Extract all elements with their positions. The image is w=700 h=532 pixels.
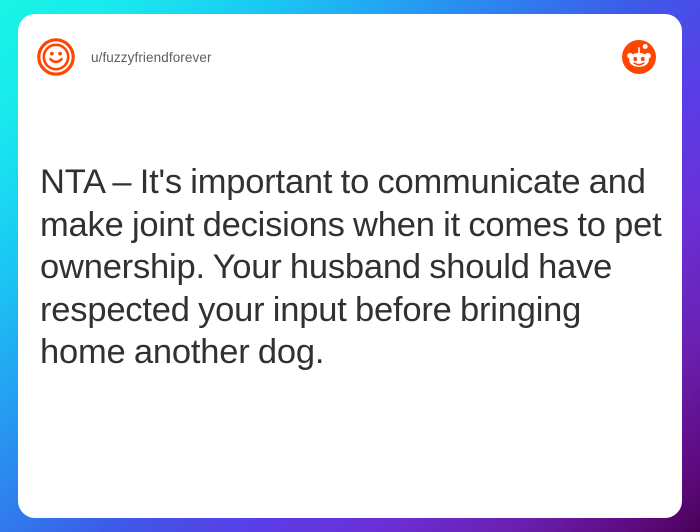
username-label: u/fuzzyfriendforever bbox=[91, 50, 622, 65]
reddit-snoo-icon[interactable] bbox=[622, 40, 656, 74]
reddit-post-card: u/fuzzyfriendforever NTA – It's im bbox=[18, 14, 682, 518]
gradient-backdrop: u/fuzzyfriendforever NTA – It's im bbox=[0, 0, 700, 532]
post-header: u/fuzzyfriendforever bbox=[18, 14, 682, 100]
smiley-face-avatar-icon[interactable] bbox=[36, 37, 76, 77]
post-body-text: NTA – It's important to communicate and … bbox=[40, 161, 666, 374]
